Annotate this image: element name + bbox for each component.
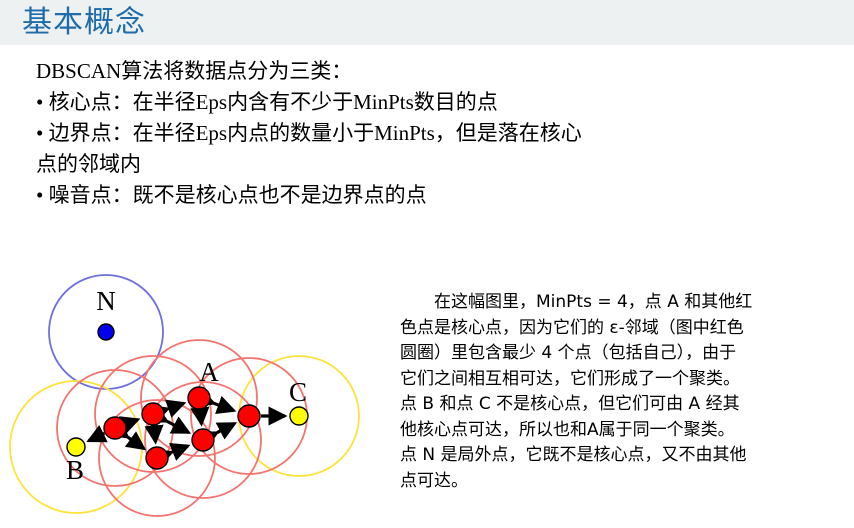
explanation-line: 点 N 是局外点，它既不是核心点，又不由其他	[400, 443, 850, 469]
edge-node-A-node-r4	[201, 414, 202, 424]
edge-node-r2-node-r3	[154, 430, 155, 442]
bullet-item-noise: • 噪音点：既不是核心点也不是边界点的点	[36, 180, 736, 211]
label-N: N	[96, 286, 116, 316]
dbscan-diagram-svg: NABC	[0, 250, 400, 528]
label-C: C	[289, 377, 307, 407]
node-r5[interactable]	[238, 405, 260, 427]
bullet-block: DBSCAN算法将数据点分为三类： • 核心点：在半径Eps内含有不少于MinP…	[36, 56, 736, 211]
edge-node-r3-node-r4	[172, 446, 188, 452]
explanation-line: 点 B 和点 C 不是核心点，但它们可由 A 经其	[400, 392, 850, 418]
header-divider	[0, 45, 854, 47]
label-A: A	[199, 357, 219, 387]
explanation-line: 圆圈）里包含最少 4 个点（包括自己），由于	[400, 341, 850, 367]
node-r2[interactable]	[142, 403, 164, 425]
label-B: B	[66, 455, 84, 485]
page-title: 基本概念	[22, 2, 146, 44]
node-r4[interactable]	[192, 429, 214, 451]
explanation-line: 他核心点可达，所以也和A属于同一个聚类。	[400, 418, 850, 444]
explanation-paragraph: 在这幅图里，MinPts = 4，点 A 和其他红 色点是核心点，因为它们的 ε…	[400, 290, 850, 494]
edge-node-A-node-r5	[214, 403, 234, 410]
node-B[interactable]	[67, 438, 85, 456]
edge-node-r2-node-r4	[167, 421, 189, 432]
explanation-line: 在这幅图里，MinPts = 4，点 A 和其他红	[400, 290, 850, 316]
explanation-line: 它们之间相互相可达，它们形成了一个聚类。	[400, 367, 850, 393]
bullet-item-core: • 核心点：在半径Eps内含有不少于MinPts数目的点	[36, 87, 736, 118]
node-N[interactable]	[98, 324, 114, 340]
explanation-line: 点可达。	[400, 469, 850, 495]
edge-node-r4-node-r5	[217, 423, 235, 432]
slide: 基本概念 DBSCAN算法将数据点分为三类： • 核心点：在半径Eps内含有不少…	[0, 0, 854, 528]
node-r3[interactable]	[146, 447, 168, 469]
dbscan-diagram: NABC	[0, 250, 400, 528]
explanation-line: 色点是核心点，因为它们的 ε-邻域（图中红色	[400, 316, 850, 342]
node-A[interactable]	[188, 387, 210, 409]
bullet-intro: DBSCAN算法将数据点分为三类：	[36, 56, 736, 87]
bullet-item-border-cont: 点的邻域内	[36, 149, 736, 180]
bullet-item-border: • 边界点：在半径Eps内点的数量小于MinPts，但是落在核心	[36, 118, 736, 149]
node-C[interactable]	[290, 407, 308, 425]
node-r1[interactable]	[104, 417, 126, 439]
